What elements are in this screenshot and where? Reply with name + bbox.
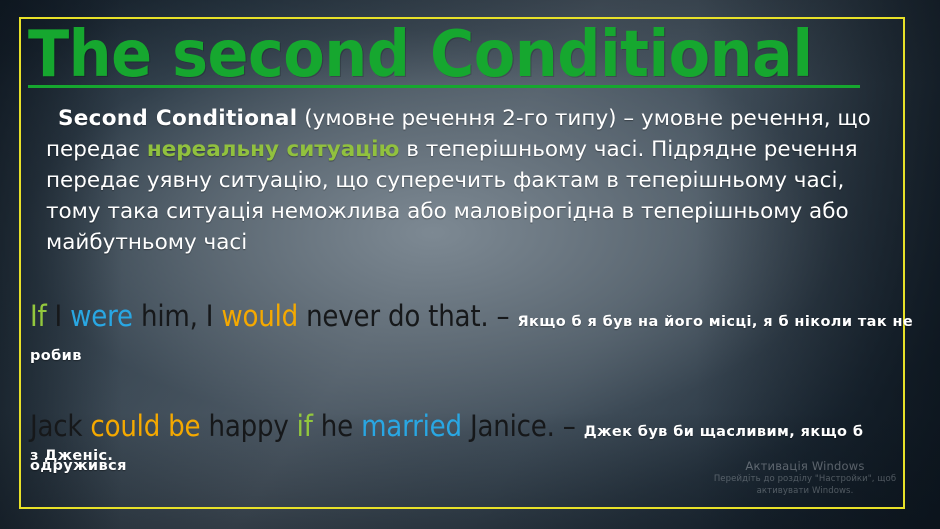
example-token-5: never do that. bbox=[298, 299, 488, 333]
watermark-subtitle: Перейдіть до розділу "Настройки", щоб ак… bbox=[690, 473, 920, 497]
title-block: The second Conditional bbox=[28, 20, 874, 88]
example-token-3: him, I bbox=[133, 299, 221, 333]
page-title: The second Conditional bbox=[28, 20, 925, 89]
example-token-6: Janice. bbox=[462, 409, 555, 443]
example-token-4: he bbox=[313, 409, 361, 443]
example-1-dash: – bbox=[488, 299, 517, 333]
example-token-0: Jack bbox=[30, 409, 90, 443]
example-token-2: were bbox=[70, 299, 133, 333]
example-2-translation-tail: з Дженіс. bbox=[30, 448, 113, 464]
example-1-sentence: If I were him, I would never do that. bbox=[30, 299, 488, 333]
example-token-0: If bbox=[30, 299, 46, 333]
example-2-dash: – bbox=[555, 409, 584, 443]
example-token-3: if bbox=[297, 409, 313, 443]
definition-paragraph: Second Conditional (умовне речення 2-го … bbox=[46, 103, 894, 258]
definition-term: Second Conditional bbox=[58, 106, 297, 131]
windows-activation-watermark: Активація Windows Перейдіть до розділу "… bbox=[690, 459, 920, 497]
presentation-slide: The second Conditional Second Conditiona… bbox=[0, 0, 940, 529]
watermark-title: Активація Windows bbox=[690, 459, 920, 473]
definition-highlight: нереальну ситуацію bbox=[147, 137, 400, 162]
example-token-2: happy bbox=[200, 409, 296, 443]
slide-content: The second Conditional Second Conditiona… bbox=[0, 0, 940, 529]
example-token-4: would bbox=[221, 299, 298, 333]
example-token-1: could be bbox=[90, 409, 200, 443]
example-token-1: I bbox=[46, 299, 70, 333]
example-sentence-1: If I were him, I would never do that. – … bbox=[30, 299, 920, 367]
example-token-5: married bbox=[361, 409, 462, 443]
example-2-sentence: Jack could be happy if he married Janice… bbox=[30, 409, 555, 443]
